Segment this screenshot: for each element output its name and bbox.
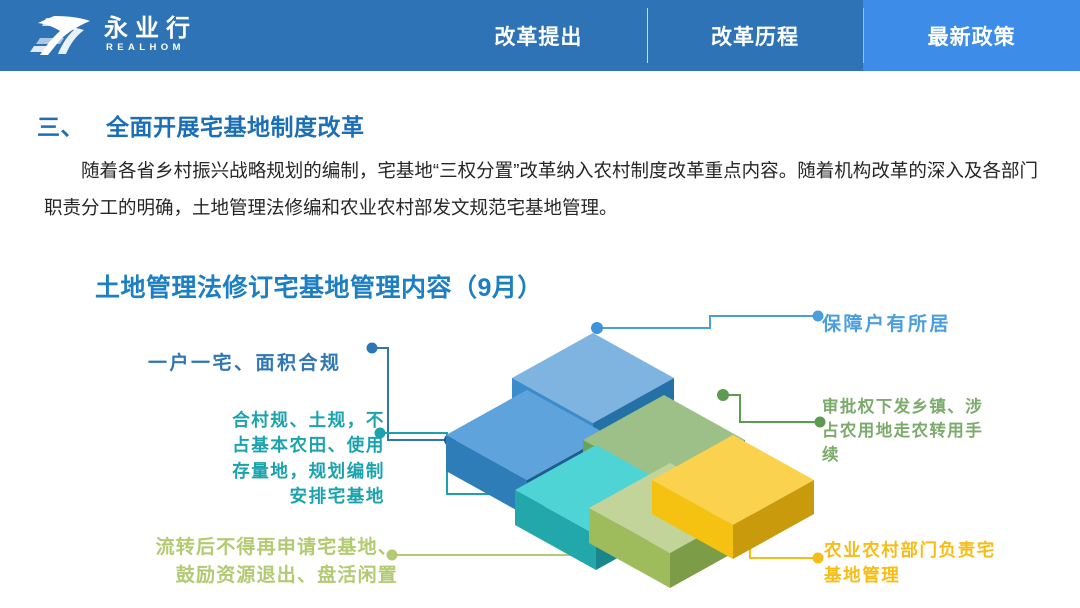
dot-mid-right (717, 389, 729, 401)
tab-label: 改革历程 (711, 21, 799, 51)
dot-top-right (591, 322, 603, 334)
label-top-right: 保障户有所居 (822, 311, 951, 339)
label-mid-right: 审批权下发乡镇、涉 占农用地走农转用手 续 (822, 396, 1027, 468)
tab-label: 最新政策 (928, 21, 1016, 51)
label-bottom-left: 流转后不得再申请宅基地、 鼓励资源退出、盘活闲置 (88, 534, 398, 589)
diagram-title: 土地管理法修订宅基地管理内容（9月） (95, 268, 543, 304)
slide-page: 永业行 REALHOM 改革提出 改革历程 最新政策 三、全面开展宅基地制度改革… (0, 0, 1080, 608)
tab-latest-policy[interactable]: 最新政策 (863, 0, 1080, 71)
section-title: 全面开展宅基地制度改革 (106, 114, 365, 140)
brand-logo[interactable]: 永业行 REALHOM (0, 0, 430, 71)
label-mid-left: 合村规、土规，不 占基本农田、使用 存量地，规划编制 安排宅基地 (170, 408, 385, 510)
label-bottom-right: 农业农村部门负责宅 基地管理 (824, 538, 1034, 589)
dot-label-bottom-right (813, 553, 824, 564)
logo-english-text: REALHOM (104, 42, 197, 54)
tab-reform-proposal[interactable]: 改革提出 (430, 0, 647, 71)
connector-top-right (597, 316, 818, 328)
isometric-block-diagram: 保障户有所居 一户一宅、面积合规 合村规、土规，不 占基本农田、使用 存量地，规… (0, 300, 1080, 608)
dot-label-top-left (367, 343, 378, 354)
label-top-left: 一户一宅、面积合规 (148, 350, 342, 378)
nav-tabs: 改革提出 改革历程 最新政策 (430, 0, 1080, 71)
yy-swoosh-logo-icon (30, 14, 92, 58)
connector-mid-right (723, 395, 820, 422)
tab-label: 改革提出 (494, 21, 582, 51)
section-heading: 三、全面开展宅基地制度改革 (37, 108, 365, 142)
header-bar: 永业行 REALHOM 改革提出 改革历程 最新政策 (0, 0, 1080, 71)
body-paragraph: 随着各省乡村振兴战略规划的编制，宅基地“三权分置”改革纳入农村制度改革重点内容。… (44, 152, 1038, 226)
logo-chinese-text: 永业行 (104, 17, 197, 42)
tab-reform-history[interactable]: 改革历程 (647, 0, 864, 71)
section-number: 三、 (37, 114, 84, 140)
